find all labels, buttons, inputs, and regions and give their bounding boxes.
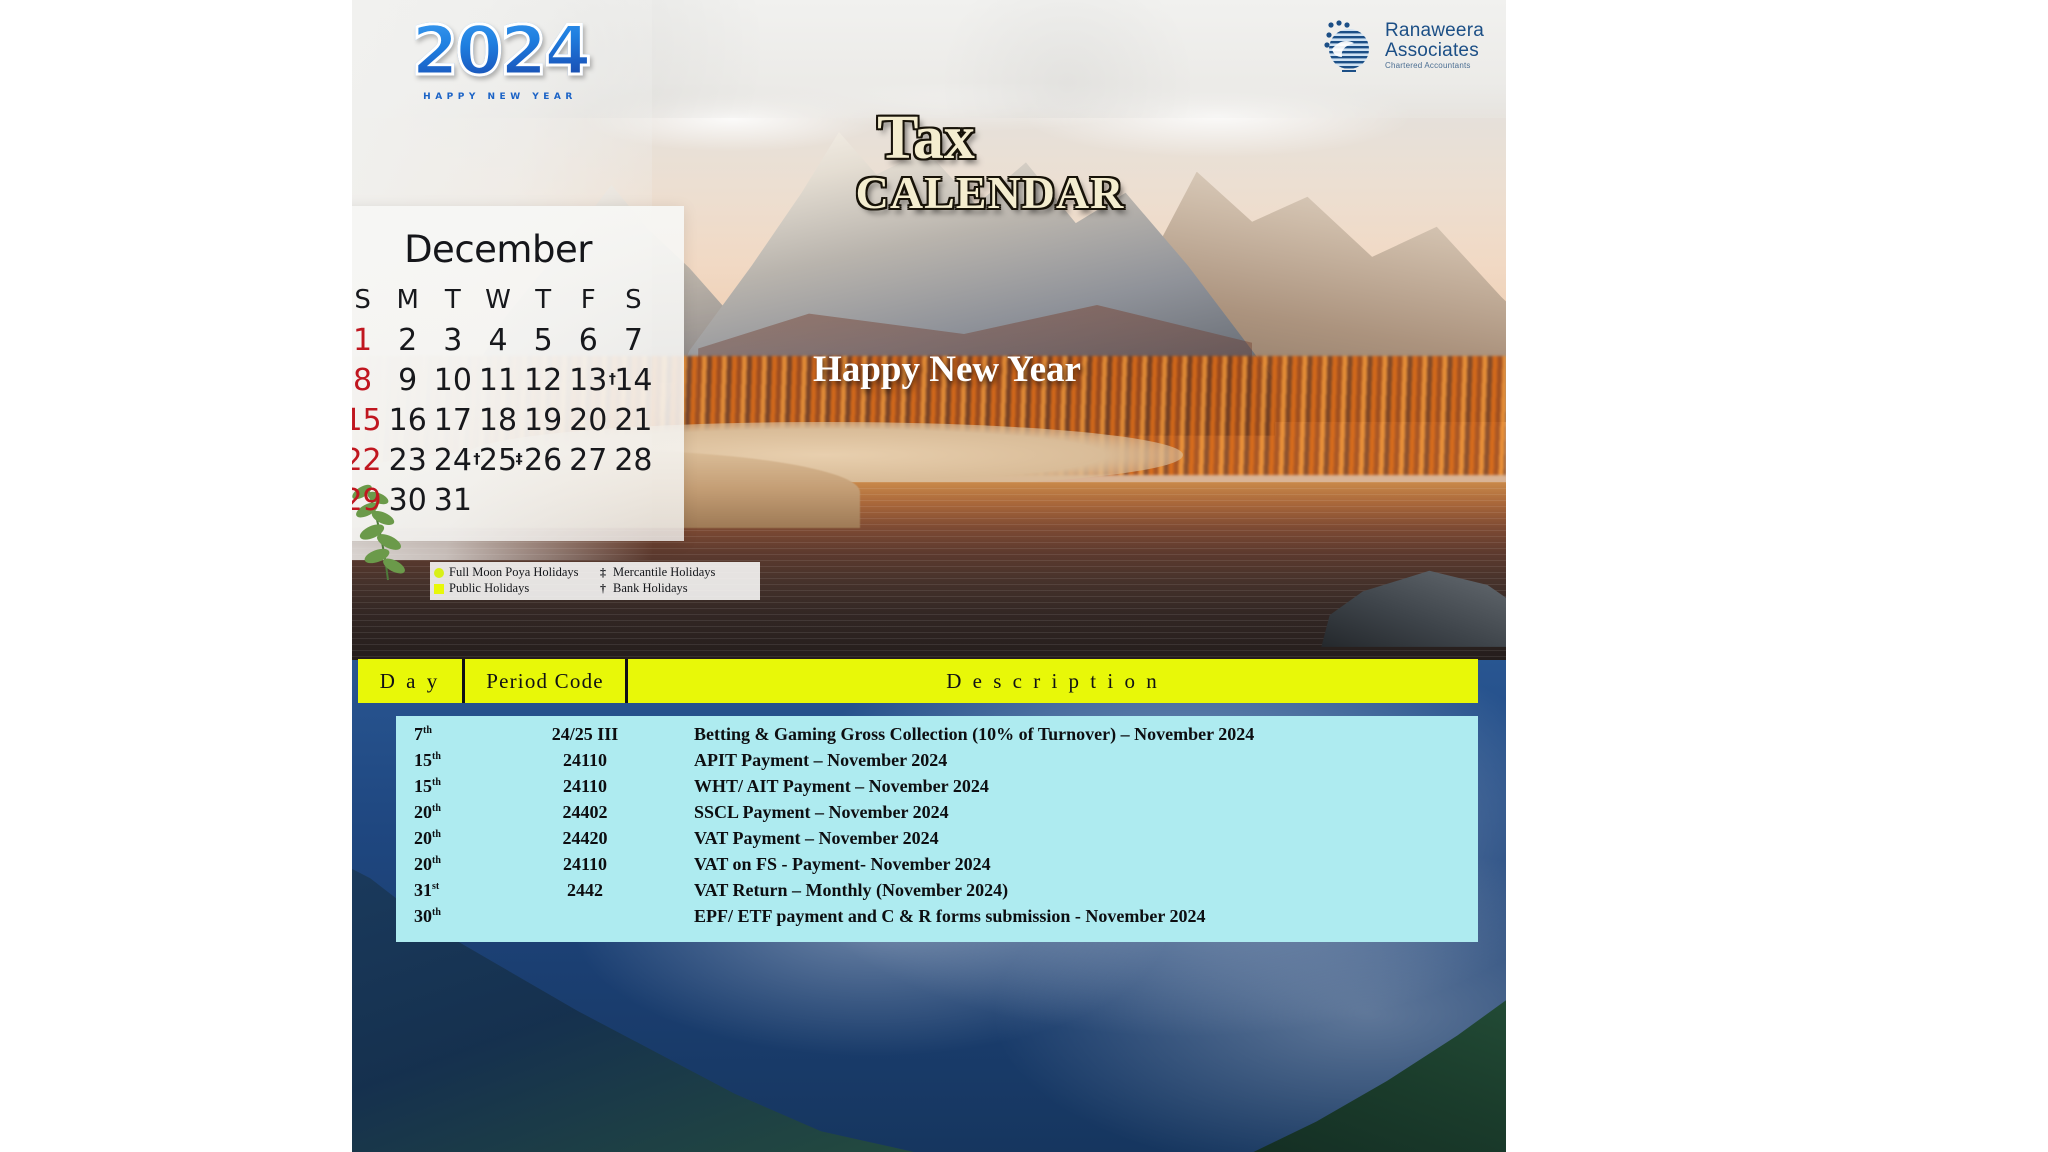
calendar-day-10[interactable]: 10 [430, 361, 475, 399]
table-body: 7th24/25 IIIBetting & Gaming Gross Colle… [396, 716, 1478, 942]
day-ordinal-suffix: th [423, 725, 432, 736]
weekday-label-6: S [611, 285, 656, 319]
calendar-day-19[interactable]: 19 [521, 401, 566, 439]
calendar-day-31[interactable]: 31 [430, 481, 475, 519]
calendar-day-9[interactable]: 9 [385, 361, 430, 399]
calendar-day-number: 17 [434, 403, 472, 438]
calendar-day-number: 22 [352, 443, 382, 478]
cell-description: VAT on FS - Payment- November 2024 [664, 854, 1478, 875]
calendar-day-17[interactable]: 17 [430, 401, 475, 439]
cell-day: 31st [396, 880, 506, 901]
cell-description: WHT/ AIT Payment – November 2024 [664, 776, 1478, 797]
calendar-day-21[interactable]: 21 [611, 401, 656, 439]
calendar-day-20[interactable]: 20 [566, 401, 611, 439]
striped-globe-icon [1318, 16, 1376, 74]
holiday-legend: Full Moon Poya Holidays‡Mercantile Holid… [430, 562, 760, 600]
calendar-artwork: 2024 HAPPY NEW YEAR [352, 0, 1506, 1152]
title-tax: Tax [652, 108, 1200, 169]
cell-day: 20th [396, 854, 506, 875]
calendar-day-8[interactable]: 8 [352, 361, 385, 399]
calendar-day-number: 1 [353, 323, 372, 358]
cell-day: 30th [396, 906, 506, 927]
calendar-day-number: 24 [434, 443, 472, 478]
calendar-day-7[interactable]: 7 [611, 321, 656, 359]
day-ordinal-suffix: th [432, 803, 441, 814]
calendar-cell-empty [521, 481, 566, 519]
legend-item-3: †Bank Holidays [598, 581, 756, 596]
cell-day: 20th [396, 828, 506, 849]
cell-period-code: 2442 [506, 880, 664, 901]
day-ordinal-suffix: st [432, 881, 439, 892]
calendar-day-30[interactable]: 30 [385, 481, 430, 519]
calendar-day-number: 7 [624, 323, 643, 358]
calendar-day-number: 4 [488, 323, 507, 358]
calendar-day-number: 5 [534, 323, 553, 358]
calendar-day-11[interactable]: 11 [475, 361, 520, 399]
calendar-day-number: 20 [569, 403, 607, 438]
table-row: 20th24420VAT Payment – November 2024 [396, 828, 1478, 854]
cell-period-code: 24420 [506, 828, 664, 849]
table-row: 31st2442VAT Return – Monthly (November 2… [396, 880, 1478, 906]
table-header-row: D a y Period Code D e s c r i p t i o n [358, 659, 1478, 703]
calendar-day-number: 28 [614, 443, 652, 478]
calendar-day-number: 15 [352, 403, 382, 438]
cell-day: 15th [396, 776, 506, 797]
holiday-symbol-icon: ‡ [598, 565, 608, 580]
calendar-day-14[interactable]: †14 [611, 361, 656, 399]
calendar-day-number: 9 [398, 363, 417, 398]
legend-item-label: Mercantile Holidays [613, 565, 715, 580]
table-row: 30thEPF/ ETF payment and C & R forms sub… [396, 906, 1478, 932]
page-title: Tax CALENDAR [770, 108, 1200, 218]
day-ordinal-suffix: th [432, 829, 441, 840]
calendar-day-1[interactable]: 1 [352, 321, 385, 359]
public-holiday-square-icon [434, 584, 444, 594]
table-row: 20th24402SSCL Payment – November 2024 [396, 802, 1478, 828]
calendar-day-number: 27 [569, 443, 607, 478]
calendar-day-number: 25 [479, 443, 517, 478]
day-ordinal-suffix: th [432, 777, 441, 788]
legend-item-label: Public Holidays [449, 581, 529, 596]
calendar-day-5[interactable]: 5 [521, 321, 566, 359]
cell-period-code: 24110 [506, 750, 664, 771]
column-header-description: D e s c r i p t i o n [628, 669, 1478, 694]
calendar-day-number: 8 [353, 363, 372, 398]
cell-description: SSCL Payment – November 2024 [664, 802, 1478, 823]
calendar-page: 2024 HAPPY NEW YEAR [0, 0, 2048, 1152]
calendar-day-number: 3 [443, 323, 462, 358]
happy-new-year-greeting: Happy New Year [712, 348, 1182, 391]
calendar-day-13[interactable]: 13 [566, 361, 611, 399]
calendar-day-number: 26 [524, 443, 562, 478]
brand-line-1: Ranaweera [1385, 21, 1484, 40]
cell-description: APIT Payment – November 2024 [664, 750, 1478, 771]
calendar-day-24[interactable]: 24 [430, 441, 475, 479]
weekday-label-1: M [385, 285, 430, 319]
weekday-label-5: F [566, 285, 611, 319]
brand-line-3: Chartered Accountants [1385, 62, 1484, 70]
year-logo-tagline: HAPPY NEW YEAR [400, 92, 600, 102]
table-row: 7th24/25 IIIBetting & Gaming Gross Colle… [396, 724, 1478, 750]
calendar-day-16[interactable]: 16 [385, 401, 430, 439]
weekday-label-0: S [352, 285, 385, 319]
calendar-day-number: 6 [579, 323, 598, 358]
weekday-label-4: T [521, 285, 566, 319]
cell-period-code: 24110 [506, 854, 664, 875]
calendar-day-2[interactable]: 2 [385, 321, 430, 359]
cell-period-code: 24402 [506, 802, 664, 823]
legend-item-1: ‡Mercantile Holidays [598, 565, 756, 580]
calendar-day-number: 29 [352, 483, 382, 518]
cell-day: 7th [396, 724, 506, 745]
calendar-day-29[interactable]: 29 [352, 481, 385, 519]
year-logo: 2024 HAPPY NEW YEAR [400, 18, 600, 102]
cell-period-code: 24/25 III [506, 724, 664, 745]
calendar-day-number: 18 [479, 403, 517, 438]
calendar-day-number: 23 [389, 443, 427, 478]
cell-day: 20th [396, 802, 506, 823]
month-card: December SMTWTFS12345678910111213†141516… [352, 206, 684, 541]
calendar-day-12[interactable]: 12 [521, 361, 566, 399]
calendar-day-number: 13 [569, 363, 607, 398]
calendar-day-25[interactable]: †25‡ [475, 441, 520, 479]
weekday-label-3: W [475, 285, 520, 319]
title-calendar: CALENDAR [780, 169, 1200, 218]
cell-description: Betting & Gaming Gross Collection (10% o… [664, 724, 1478, 745]
calendar-day-26[interactable]: 26 [521, 441, 566, 479]
calendar-day-number: 31 [434, 483, 472, 518]
table-row: 15th24110WHT/ AIT Payment – November 202… [396, 776, 1478, 802]
table-row: 20th24110VAT on FS - Payment- November 2… [396, 854, 1478, 880]
legend-item-label: Full Moon Poya Holidays [449, 565, 579, 580]
calendar-day-number: 11 [479, 363, 517, 398]
holiday-symbol-icon: † [598, 581, 608, 596]
company-logo: Ranaweera Associates Chartered Accountan… [1318, 16, 1484, 74]
calendar-day-27[interactable]: 27 [566, 441, 611, 479]
calendar-day-18[interactable]: 18 [475, 401, 520, 439]
calendar-day-23[interactable]: 23 [385, 441, 430, 479]
calendar-day-number: 12 [524, 363, 562, 398]
calendar-cell-empty [566, 481, 611, 519]
calendar-day-number: 2 [398, 323, 417, 358]
calendar-day-4[interactable]: 4 [475, 321, 520, 359]
calendar-day-number: 10 [434, 363, 472, 398]
cell-day: 15th [396, 750, 506, 771]
calendar-day-number: 14 [614, 363, 652, 398]
poya-dot-icon [434, 568, 444, 578]
table-row: 15th24110APIT Payment – November 2024 [396, 750, 1478, 776]
column-header-day: D a y [358, 669, 462, 694]
brand-line-2: Associates [1385, 41, 1484, 60]
calendar-day-number: 19 [524, 403, 562, 438]
cell-description: VAT Payment – November 2024 [664, 828, 1478, 849]
year-logo-number: 2024 [400, 18, 600, 86]
calendar-day-6[interactable]: 6 [566, 321, 611, 359]
calendar-day-22[interactable]: 22 [352, 441, 385, 479]
calendar-day-28[interactable]: 28 [611, 441, 656, 479]
month-name: December [352, 206, 684, 271]
day-ordinal-suffix: th [432, 855, 441, 866]
calendar-cell-empty [611, 481, 656, 519]
legend-item-label: Bank Holidays [613, 581, 688, 596]
column-header-period-code: Period Code [465, 669, 625, 694]
legend-item-2: Public Holidays [434, 581, 592, 596]
calendar-cell-empty [475, 481, 520, 519]
cell-period-code: 24110 [506, 776, 664, 797]
calendar-day-number: 21 [614, 403, 652, 438]
calendar-day-number: 16 [389, 403, 427, 438]
legend-item-0: Full Moon Poya Holidays [434, 565, 592, 580]
cell-description: EPF/ ETF payment and C & R forms submiss… [664, 906, 1478, 927]
calendar-day-15[interactable]: 15 [352, 401, 385, 439]
day-ordinal-suffix: th [432, 907, 441, 918]
cell-description: VAT Return – Monthly (November 2024) [664, 880, 1478, 901]
weekday-label-2: T [430, 285, 475, 319]
calendar-day-3[interactable]: 3 [430, 321, 475, 359]
day-ordinal-suffix: th [432, 751, 441, 762]
calendar-day-number: 30 [389, 483, 427, 518]
calendar-grid: SMTWTFS12345678910111213†141516171819202… [352, 285, 656, 519]
